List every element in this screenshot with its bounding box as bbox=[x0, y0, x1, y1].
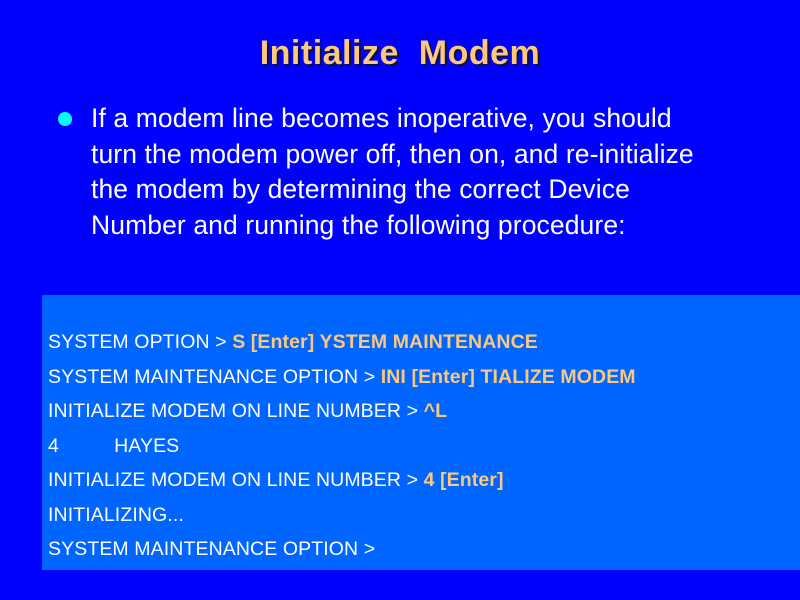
terminal-line: SYSTEM MAINTENANCE OPTION > INI [Enter] … bbox=[48, 360, 800, 395]
terminal-prompt-text: INITIALIZE MODEM ON LINE NUMBER > bbox=[48, 469, 424, 491]
terminal-keystroke-text: 4 [Enter] bbox=[424, 469, 504, 491]
bullet-item-text: If a modem line becomes inoperative, you… bbox=[91, 101, 708, 243]
terminal-prompt-text: INITIALIZING... bbox=[48, 504, 184, 526]
terminal-line-container: SYSTEM OPTION > S [Enter] YSTEM MAINTENA… bbox=[48, 325, 800, 567]
terminal-prompt-text: SYSTEM OPTION > bbox=[48, 331, 232, 353]
terminal-prompt-text: INITIALIZE MODEM ON LINE NUMBER > bbox=[48, 400, 424, 422]
terminal-line: SYSTEM MAINTENANCE OPTION > bbox=[48, 532, 800, 567]
terminal-prompt-text: SYSTEM MAINTENANCE OPTION > bbox=[48, 366, 381, 388]
terminal-keystroke-text: TIALIZE MODEM bbox=[475, 366, 636, 388]
bullet-list: If a modem line becomes inoperative, you… bbox=[58, 101, 708, 243]
terminal-keystroke-text: INI [Enter] bbox=[381, 366, 475, 388]
terminal-line: 4 HAYES bbox=[48, 429, 800, 464]
terminal-prompt-text: SYSTEM MAINTENANCE OPTION > bbox=[48, 538, 375, 560]
page-title: Initialize Modem bbox=[0, 34, 800, 73]
terminal-keystroke-text: ^L bbox=[424, 400, 448, 422]
terminal-line: SYSTEM OPTION > S [Enter] YSTEM MAINTENA… bbox=[48, 325, 800, 360]
terminal-prompt-text: 4 HAYES bbox=[48, 435, 179, 457]
bullet-dot-icon bbox=[58, 112, 72, 126]
terminal-line: INITIALIZING... bbox=[48, 498, 800, 533]
terminal-keystroke-text: S [Enter] bbox=[232, 331, 314, 353]
terminal-line: INITIALIZE MODEM ON LINE NUMBER > 4 [Ent… bbox=[48, 463, 800, 498]
terminal-line: INITIALIZE MODEM ON LINE NUMBER > ^L bbox=[48, 394, 800, 429]
slide-canvas: Initialize Modem If a modem line becomes… bbox=[0, 0, 800, 600]
terminal-keystroke-text: YSTEM MAINTENANCE bbox=[314, 331, 538, 353]
list-item: If a modem line becomes inoperative, you… bbox=[58, 101, 708, 243]
terminal-transcript-panel: SYSTEM OPTION > S [Enter] YSTEM MAINTENA… bbox=[42, 295, 800, 570]
